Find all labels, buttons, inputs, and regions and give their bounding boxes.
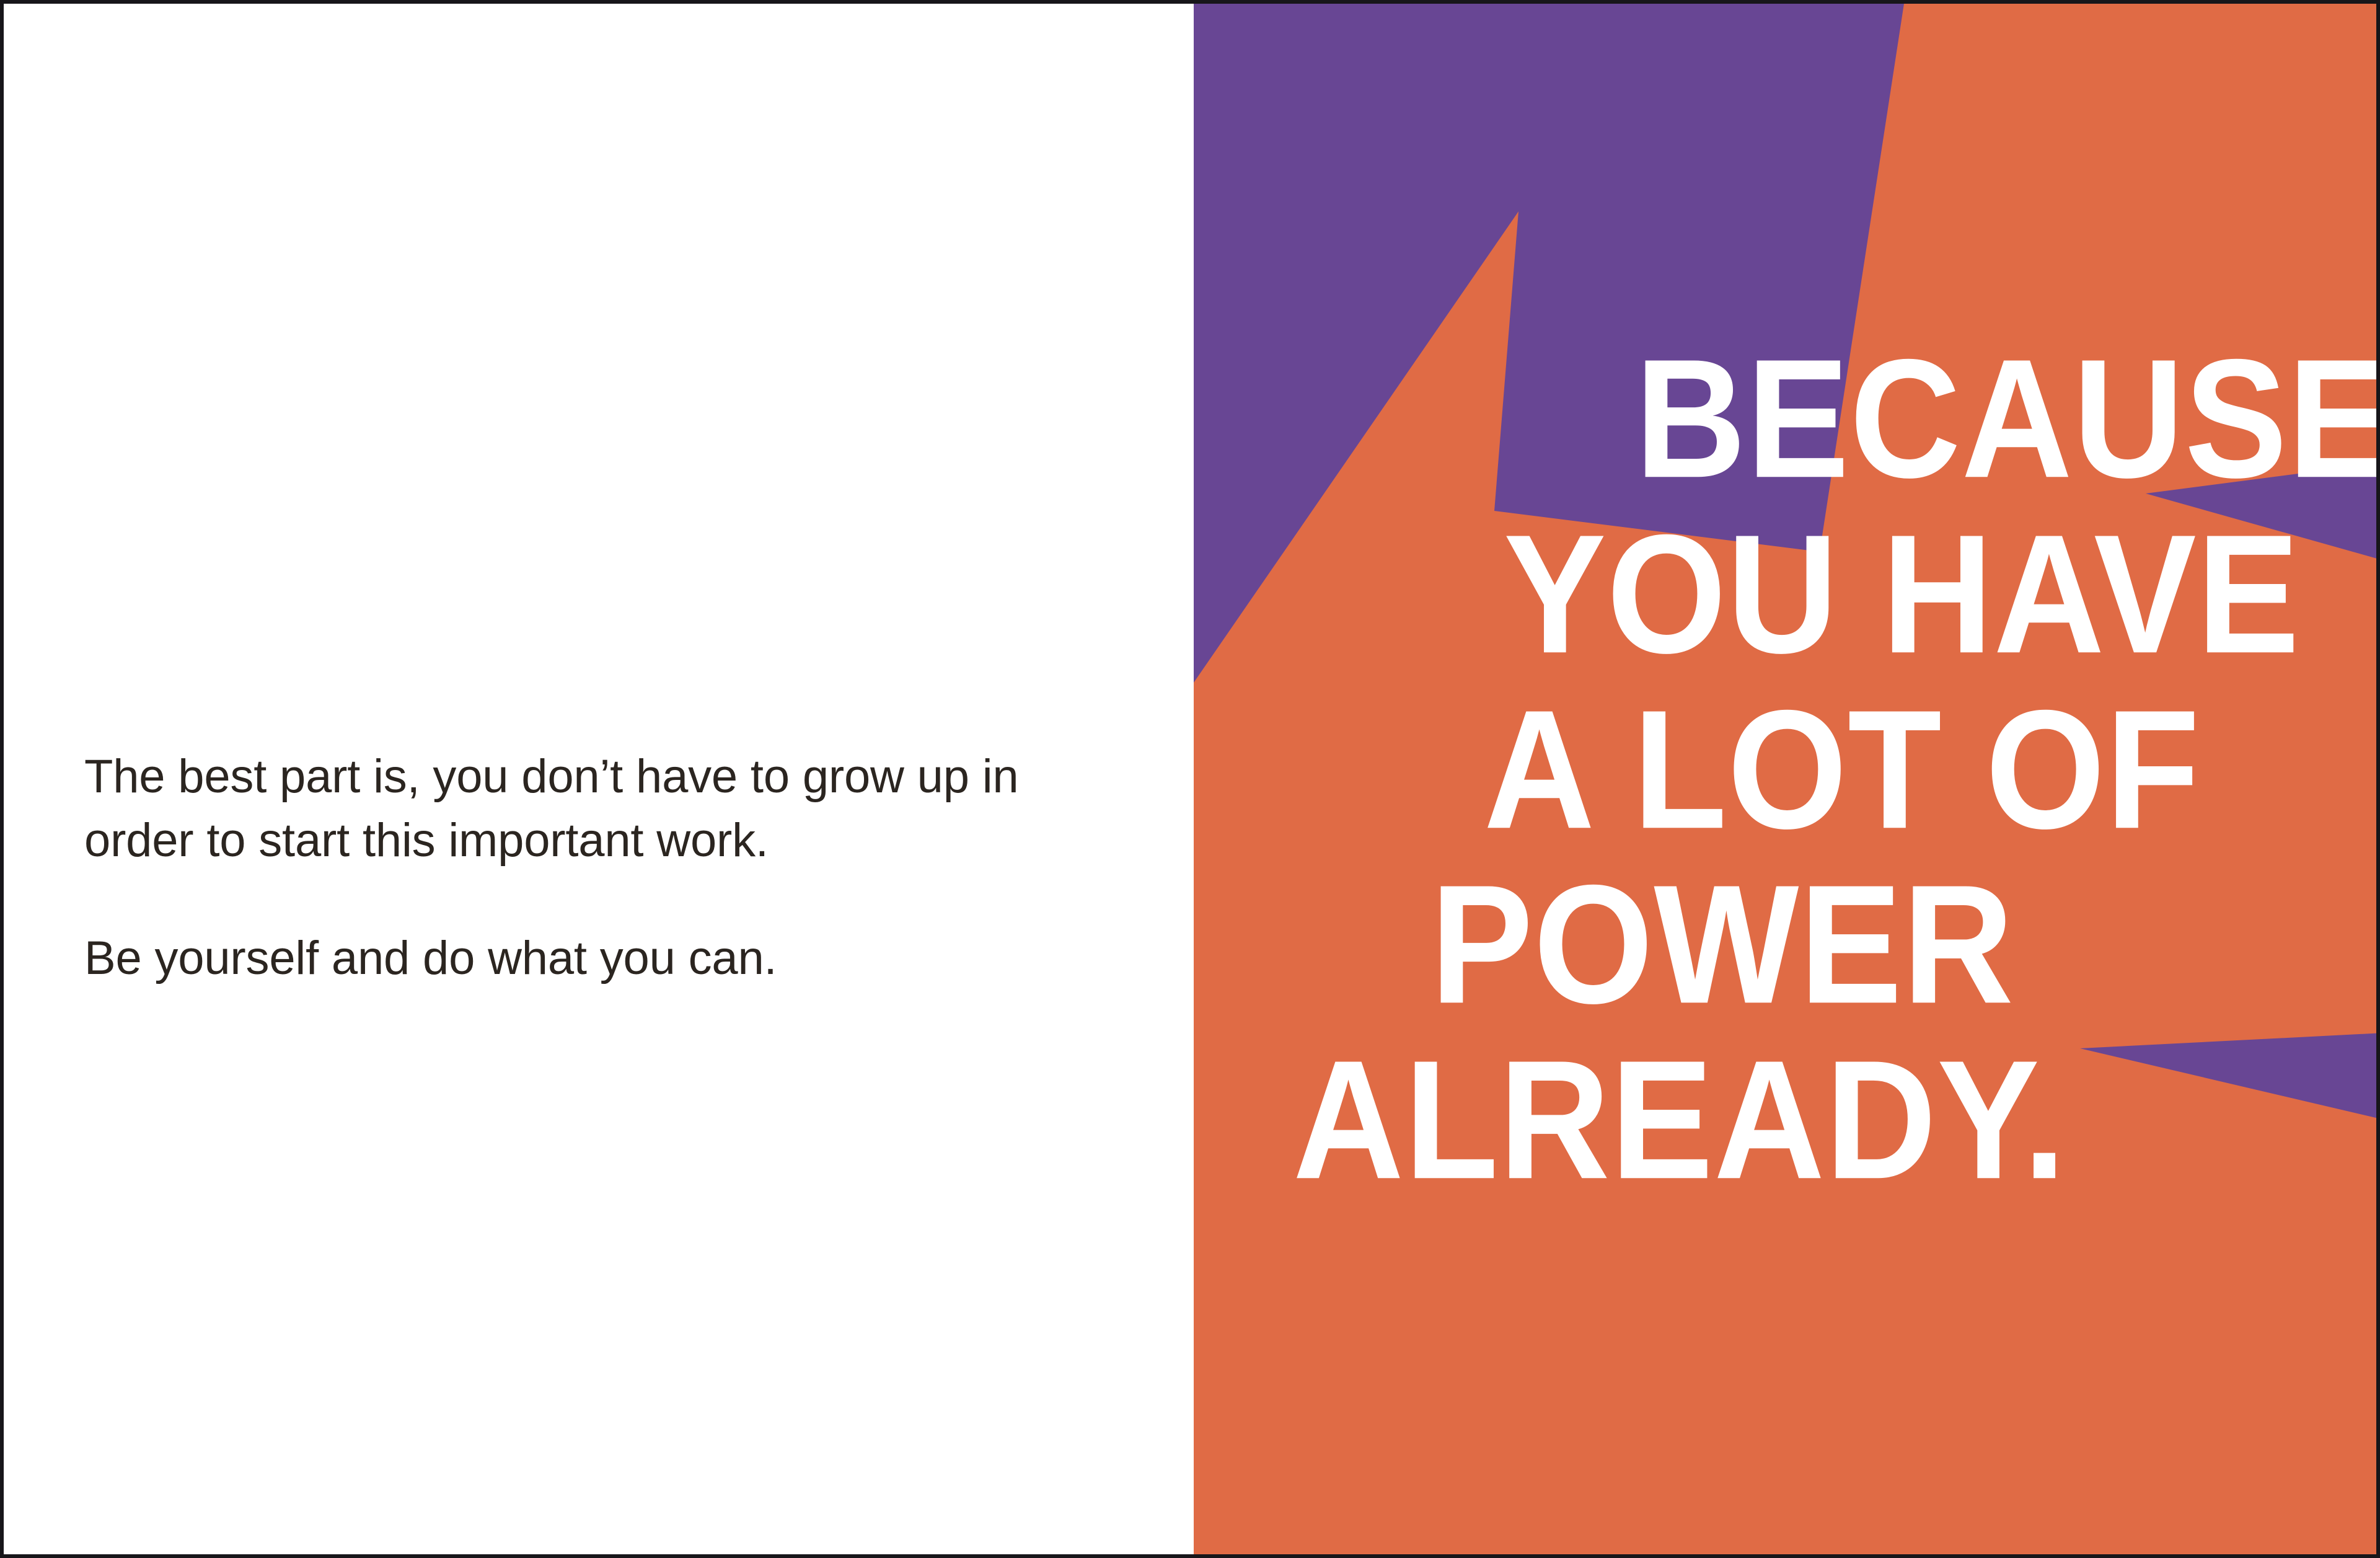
paragraph-1: The best part is, you don’t have to grow…	[84, 745, 1138, 873]
right-page: BECAUSE YOU HAVE A LOT OF POWER ALREADY.	[1194, 4, 2380, 1558]
left-page: The best part is, you don’t have to grow…	[4, 4, 1194, 1558]
body-copy: The best part is, you don’t have to grow…	[84, 745, 1138, 990]
book-spread: The best part is, you don’t have to grow…	[0, 0, 2380, 1558]
zigzag-lightning-shape-icon	[1194, 4, 2380, 1558]
paragraph-2: Be yourself and do what you can.	[84, 926, 1138, 990]
